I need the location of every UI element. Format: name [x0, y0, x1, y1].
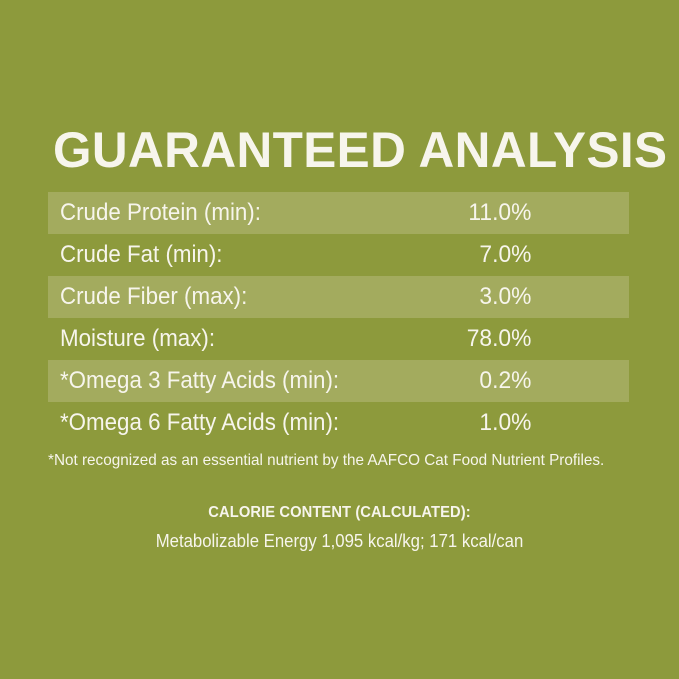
- nutrient-label: Crude Fat (min):: [60, 234, 355, 276]
- nutrient-value: 7.0%: [389, 234, 615, 276]
- calorie-content-heading: CALORIE CONTENT (CALCULATED):: [27, 502, 652, 523]
- nutrient-value: 1.0%: [389, 402, 615, 444]
- nutrient-label: *Omega 3 Fatty Acids (min):: [60, 360, 355, 402]
- page-title: GUARANTEED ANALYSIS: [53, 122, 623, 178]
- table-row: *Omega 6 Fatty Acids (min):1.0%: [48, 402, 629, 444]
- table-row: Crude Fiber (max):3.0%: [48, 276, 629, 318]
- table-row: Crude Protein (min):11.0%: [48, 192, 629, 234]
- table-row: Moisture (max):78.0%: [48, 318, 629, 360]
- nutrient-value: 3.0%: [389, 276, 615, 318]
- guaranteed-analysis-panel: GUARANTEED ANALYSIS Crude Protein (min):…: [0, 0, 679, 679]
- footnote-text: *Not recognized as an essential nutrient…: [48, 450, 607, 472]
- nutrient-value: 78.0%: [389, 318, 615, 360]
- nutrient-label: Crude Fiber (max):: [60, 276, 355, 318]
- table-row: *Omega 3 Fatty Acids (min):0.2%: [48, 360, 629, 402]
- nutrient-label: *Omega 6 Fatty Acids (min):: [60, 402, 355, 444]
- calorie-content-section: CALORIE CONTENT (CALCULATED): Metaboliza…: [0, 502, 679, 553]
- nutrient-label: Crude Protein (min):: [60, 192, 355, 234]
- nutrient-value: 11.0%: [389, 192, 615, 234]
- guaranteed-analysis-table: Crude Protein (min):11.0%Crude Fat (min)…: [48, 192, 629, 444]
- calorie-content-detail: Metabolizable Energy 1,095 kcal/kg; 171 …: [24, 530, 655, 553]
- table-row: Crude Fat (min):7.0%: [48, 234, 629, 276]
- nutrient-label: Moisture (max):: [60, 318, 355, 360]
- nutrient-value: 0.2%: [389, 360, 615, 402]
